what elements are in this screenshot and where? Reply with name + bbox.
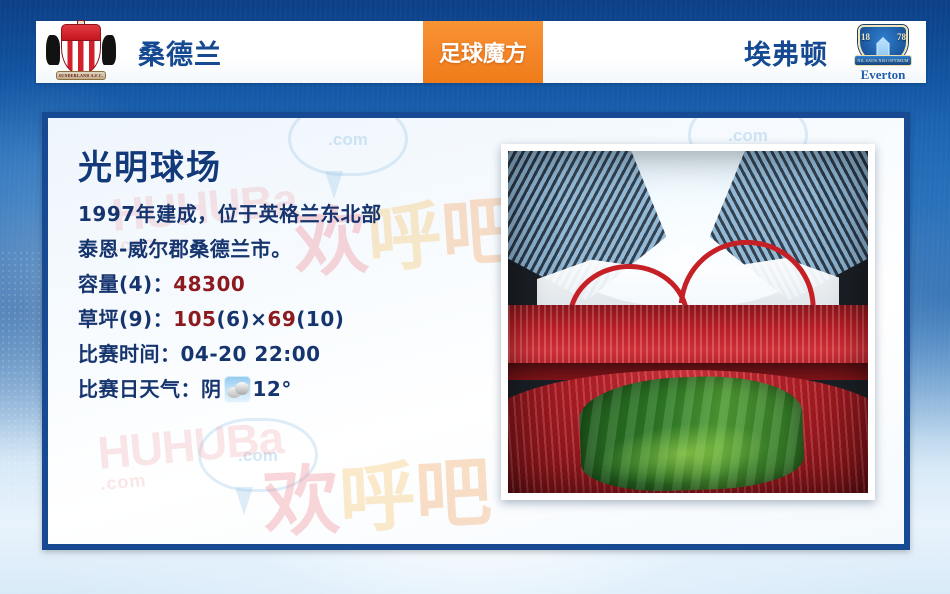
stadium-title: 光明球场 [78, 140, 498, 189]
crest-year-left: 18 [861, 32, 870, 42]
stadium-description-line-2: 泰恩-威尔郡桑德兰市。 [78, 232, 498, 267]
pitch-label: 草坪(9)： [78, 307, 173, 331]
home-team-name: 桑德兰 [138, 33, 222, 72]
watermark-char-3: 吧 [413, 447, 494, 540]
away-team-block[interactable]: 埃弗顿 18 78 NIL SATIS NISI OPTIMUM Everton [744, 21, 926, 83]
stadium-description-line-1: 1997年建成，位于英格兰东北部 [78, 197, 498, 232]
away-team-name: 埃弗顿 [744, 33, 828, 72]
match-header: SUNDERLAND A.F.C. 桑德兰 足球魔方 埃弗顿 18 78 NIL… [36, 21, 926, 83]
weather-label: 比赛日天气： [78, 372, 201, 407]
watermark-huhuba: HUHUBa .com [95, 410, 286, 495]
crest-lion-right-shape [102, 35, 116, 65]
weather-row: 比赛日天气：阴12° [78, 372, 498, 407]
crest-club-name: Everton [846, 67, 920, 83]
weather-condition: 阴 [201, 372, 222, 407]
watermark-huhuba-sub: .com [100, 458, 287, 495]
crest-year-right: 78 [897, 32, 906, 42]
stadium-info-card: .com .com .com .com 欢呼吧 欢呼吧 HUHUBa .com … [42, 112, 910, 550]
site-brand-text: 足球魔方 [439, 36, 527, 68]
sunderland-crest-icon: SUNDERLAND A.F.C. [44, 23, 118, 81]
watermark-char-1: 欢 [261, 455, 342, 548]
pitch-row: 草坪(9)：105(6)×69(10) [78, 302, 498, 337]
watermark-huhuba-text: HUHUBa [95, 411, 285, 479]
match-time-label: 比赛时间： [78, 342, 181, 366]
cloudy-icon [224, 376, 251, 403]
watermark-huanhuba: 欢呼吧 [260, 430, 493, 550]
pitch-length-rank: (6) [216, 307, 250, 331]
match-time-value: 04-20 22:00 [181, 342, 321, 366]
cloud-puff-right [235, 382, 249, 395]
crest-motto-ribbon: NIL SATIS NISI OPTIMUM [854, 55, 912, 66]
home-team-block[interactable]: SUNDERLAND A.F.C. 桑德兰 [36, 21, 222, 83]
weather-temperature: 12° [253, 372, 292, 407]
stadium-info-column: 光明球场 1997年建成，位于英格兰东北部 泰恩-威尔郡桑德兰市。 容量(4)：… [78, 140, 498, 407]
crest-lion-left-shape [46, 35, 60, 65]
crest-top-band-shape [61, 24, 101, 41]
capacity-row: 容量(4)：48300 [78, 267, 498, 302]
pitch-length-value: 105 [173, 307, 216, 331]
watermark-char-2: 呼 [337, 451, 418, 544]
match-time-row: 比赛时间：04-20 22:00 [78, 337, 498, 372]
crest-scroll-text: SUNDERLAND A.F.C. [56, 71, 106, 80]
pitch-width-value: 69 [267, 307, 296, 331]
site-brand-logo[interactable]: 足球魔方 [423, 21, 543, 83]
pitch-separator: × [250, 307, 267, 331]
watermark-bubble: .com [198, 418, 318, 492]
stadium-photo [508, 151, 868, 493]
pitch-width-rank: (10) [296, 307, 344, 331]
page-root: SUNDERLAND A.F.C. 桑德兰 足球魔方 埃弗顿 18 78 NIL… [0, 0, 950, 594]
stadium-photo-frame[interactable] [501, 144, 875, 500]
capacity-value: 48300 [173, 272, 245, 296]
capacity-label: 容量(4)： [78, 272, 173, 296]
everton-crest-icon: 18 78 NIL SATIS NISI OPTIMUM Everton [846, 23, 920, 81]
